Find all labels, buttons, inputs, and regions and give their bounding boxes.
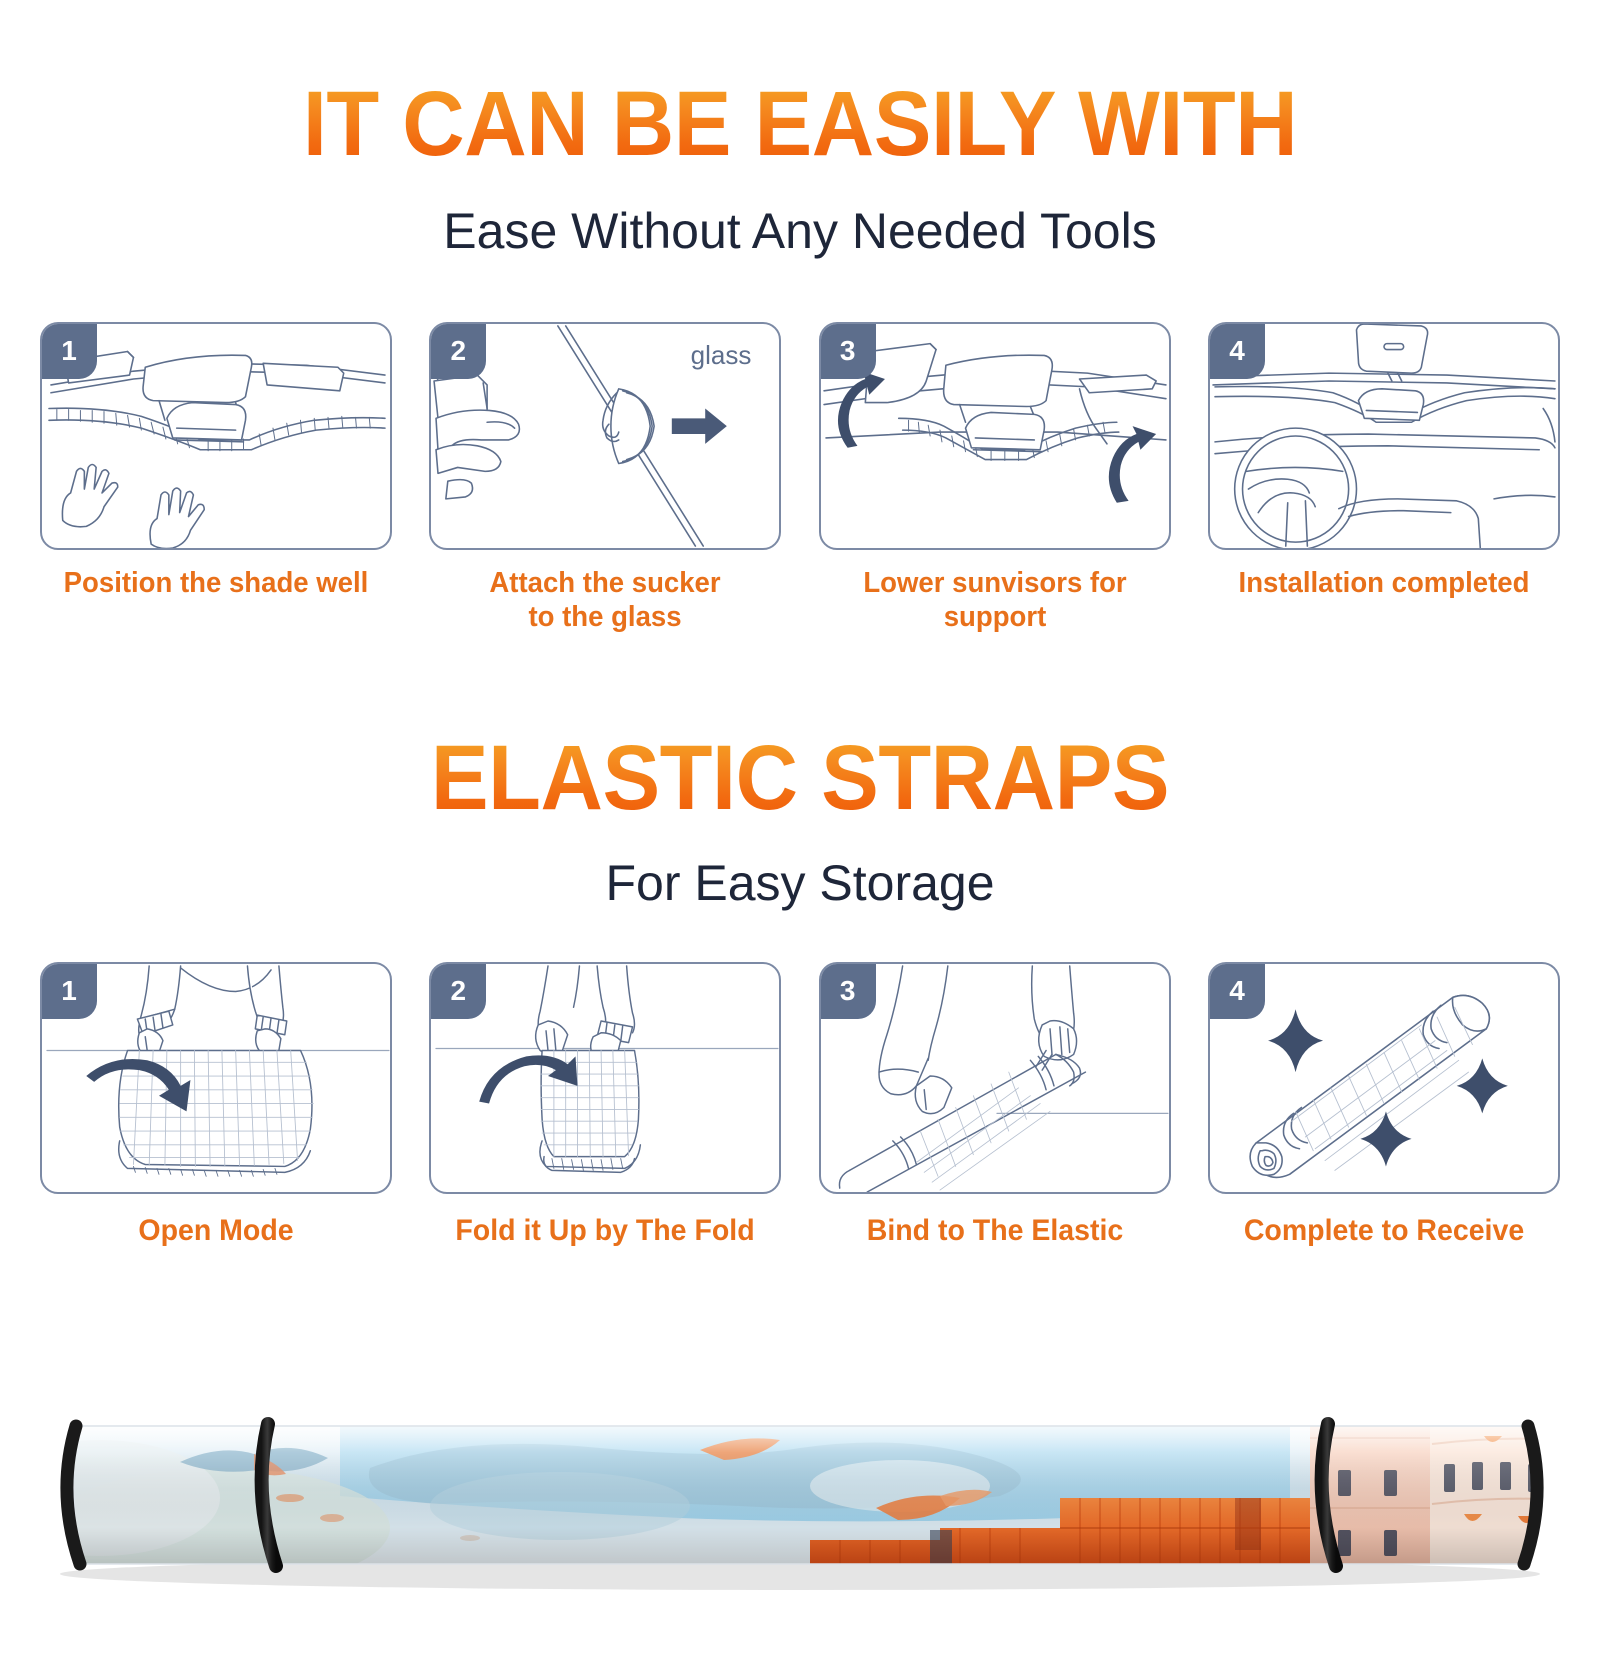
install-section-subtitle: Ease Without Any Needed Tools [0, 206, 1600, 256]
storage-section-title: ELASTIC STRAPS [48, 732, 1552, 824]
install-step-1-caption: Position the shade well [49, 566, 383, 600]
storage-step-4: 4 [1208, 962, 1560, 1248]
install-step-3: 3 [819, 322, 1171, 634]
storage-section-subtitle: For Easy Storage [0, 858, 1600, 908]
storage-step-1: 1 [40, 962, 392, 1248]
install-step-4-caption: Installation completed [1217, 566, 1551, 600]
storage-step-2-panel: 2 [429, 962, 781, 1194]
glass-annotation-label: glass [691, 340, 752, 371]
storage-step-4-caption: Complete to Receive [1217, 1213, 1551, 1248]
install-step-4-panel: 4 [1208, 322, 1560, 550]
install-section-title: IT CAN BE EASILY WITH [48, 78, 1552, 170]
storage-step-4-panel: 4 [1208, 962, 1560, 1194]
product-roll-photo [40, 1378, 1560, 1608]
step-number-badge: 3 [820, 963, 876, 1019]
step-number-badge: 4 [1209, 963, 1265, 1019]
install-step-2-caption: Attach the sucker to the glass [438, 566, 772, 634]
storage-step-2-caption: Fold it Up by The Fold [438, 1213, 772, 1248]
install-step-4: 4 [1208, 322, 1560, 634]
install-step-2: 2 [429, 322, 781, 634]
step-number-badge: 2 [430, 323, 486, 379]
storage-step-3-panel: 3 [819, 962, 1171, 1194]
step-number-badge: 1 [41, 323, 97, 379]
step-number-badge: 4 [1209, 323, 1265, 379]
install-step-1: 1 [40, 322, 392, 634]
storage-step-1-panel: 1 [40, 962, 392, 1194]
install-steps-row: 1 [0, 322, 1600, 634]
storage-step-3-caption: Bind to The Elastic [827, 1213, 1161, 1248]
install-step-2-panel: 2 [429, 322, 781, 550]
storage-steps-row: 1 [0, 962, 1600, 1248]
step-number-badge: 3 [820, 323, 876, 379]
install-step-3-panel: 3 [819, 322, 1171, 550]
storage-step-1-caption: Open Mode [49, 1213, 383, 1248]
step-number-badge: 2 [430, 963, 486, 1019]
install-step-3-caption: Lower sunvisors for support [827, 566, 1161, 634]
storage-step-2: 2 [429, 962, 781, 1248]
install-step-1-panel: 1 [40, 322, 392, 550]
step-number-badge: 1 [41, 963, 97, 1019]
storage-step-3: 3 [819, 962, 1171, 1248]
